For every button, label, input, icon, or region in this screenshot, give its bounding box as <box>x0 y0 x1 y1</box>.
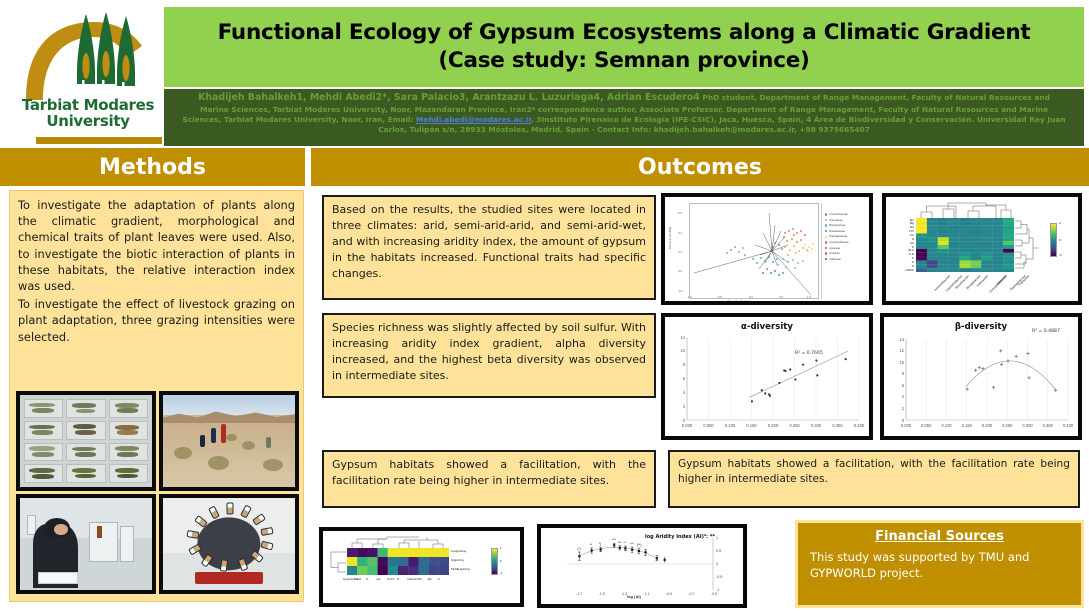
financial-sources-panel: Financial Sources This study was support… <box>795 520 1084 608</box>
pca-ytick-0: 0.6 <box>678 211 682 215</box>
pca-legend-label-3: Brassicaceae <box>829 230 845 233</box>
poster-canvas: Tarbiat Modares University Functional Ec… <box>0 0 1089 611</box>
x-tick-label: 0.250 <box>998 423 1016 428</box>
y-tick-label: 10 <box>674 348 685 353</box>
y-tick-label: 4 <box>893 394 904 399</box>
author-email-link[interactable]: Mehdi.abedi@modares.ac.ir <box>416 115 531 124</box>
photo-field-sampling-desert <box>159 391 299 491</box>
section-header-outcomes: Outcomes <box>311 148 1089 186</box>
y-tick-label: 14 <box>893 337 904 342</box>
x-tick-label: 0.300 <box>1019 423 1037 428</box>
x-tick-label: 0.000 <box>897 423 915 428</box>
y-tick-label: 8 <box>674 362 685 367</box>
aridity-significance-marker: *** <box>612 538 616 542</box>
author-names-line: Khadijeh Bahalkeh1, Mehdi Abedi2*, Sara … <box>170 92 1078 105</box>
heatmap-row-dendrogram-icon <box>1015 218 1041 272</box>
pca-legend-label-5: Caryophyllaceae <box>829 241 848 244</box>
x-tick-label: 0.050 <box>700 423 718 428</box>
affiliation-line-2-wrap: Marine Sciences, Tarbiat Modares Univers… <box>170 105 1078 115</box>
pca-legend-item[interactable]: Brassicaceae <box>825 230 873 233</box>
x-tick-label: 0.400 <box>850 423 868 428</box>
affiliation-line-3-post: , 3Instituto Pirenaico de Ecología (IPE-… <box>531 115 1066 124</box>
section-header-methods: Methods <box>0 148 308 186</box>
soil-heatmap-row-label: Lowgrazing <box>451 549 466 553</box>
outcome-textbox-facilitation-right: Gypsum habitats showed a facilitation, w… <box>668 450 1080 508</box>
pca-legend-item[interactable]: Caryophyllaceae <box>825 241 873 244</box>
tarbiat-modares-logo-icon <box>20 10 154 102</box>
financial-sources-title: Financial Sources <box>810 529 1069 544</box>
pca-legend-label-0: Amaranthaceae <box>829 213 847 216</box>
university-logo-block: Tarbiat Modares University <box>0 0 162 146</box>
affiliation-line-2: Marine Sciences, Tarbiat Modares Univers… <box>200 105 1048 114</box>
pca-legend-item[interactable]: Boraginaceae <box>825 224 873 227</box>
aridity-y-tick-label: -1 <box>716 588 719 592</box>
legend-swatch-icon <box>825 247 827 249</box>
pca-vectors-and-points <box>689 203 819 299</box>
aridity-x-tick-label: -0.7 <box>686 592 698 596</box>
financial-sources-body: This study was supported by TMU and GYPW… <box>810 550 1069 581</box>
outcome-textbox-facilitation-left: Gypsum habitats showed a facilitation, w… <box>322 450 656 508</box>
soil-heatmap-column-label: pH <box>377 577 381 581</box>
x-tick-label: 0.200 <box>978 423 996 428</box>
x-tick-label: 0.000 <box>678 423 696 428</box>
methods-paragraph-1: To investigate the adaptation of plants … <box>18 197 295 294</box>
aridity-y-tick-label: 0.5 <box>716 549 721 553</box>
logo-line-2: University <box>14 114 162 130</box>
x-tick-label: 0.250 <box>786 423 804 428</box>
affiliation-line-4: Carlos, Tulipán s/n, 28933 Móstoles, Mad… <box>378 125 870 134</box>
x-tick-label: 0.150 <box>958 423 976 428</box>
x-tick-label: 0.100 <box>938 423 956 428</box>
section-header-methods-label: Methods <box>99 155 206 180</box>
x-tick-label: 0.400 <box>1059 423 1077 428</box>
aridity-x-tick-label: -1.1 <box>641 592 653 596</box>
photo-dried-leaf-samples-trays <box>16 391 156 491</box>
pca-legend-label-2: Boraginaceae <box>829 224 845 227</box>
heatmap-row-label: C <box>888 257 914 260</box>
y-tick-label: 12 <box>674 335 685 340</box>
legend-swatch-icon <box>825 219 827 221</box>
y-tick-label: 12 <box>893 348 904 353</box>
pca-ytick-2: 0.2 <box>678 250 682 254</box>
figure-aridity-index-response: log Aridity Index (AI)²: ** log (AI) -1.… <box>537 524 747 608</box>
methods-panel: To investigate the adaptation of plants … <box>9 190 304 602</box>
soil-heatmap-column-label: C <box>438 577 440 581</box>
x-tick-label: 0.050 <box>917 423 935 428</box>
figure-pca-biplot: PCoA 2 (21.8%) PCoA 1 (42.7%) 0.6 0.4 0.… <box>661 193 873 305</box>
pca-legend-item[interactable]: Amaranthaceae <box>825 213 873 216</box>
heatmap-row-label: LDMC <box>888 269 914 272</box>
x-tick-label: 0.150 <box>743 423 761 428</box>
aridity-y-tick-label: 0 <box>716 562 718 566</box>
aridity-significance-marker: ** <box>623 541 625 545</box>
pca-legend-label-4: Plantaginaceae <box>829 235 847 238</box>
pca-legend-item[interactable]: Apiaceae <box>825 247 873 250</box>
affiliation-line-4-wrap: Carlos, Tulipán s/n, 28933 Móstoles, Mad… <box>170 125 1078 135</box>
pca-y-axis-label: PCoA 2 (21.8%) <box>668 227 672 249</box>
outcome-textbox-climates: Based on the results, the studied sites … <box>322 195 656 300</box>
logo-wordmark: Tarbiat Modares University <box>14 98 162 130</box>
pca-legend-label-6: Apiaceae <box>829 247 840 250</box>
heatmap-colorbar-tick-max: 2 <box>1059 221 1061 225</box>
photo-laboratory-analysis <box>16 494 156 594</box>
aridity-significance-marker: (*) <box>577 547 580 551</box>
legend-swatch-icon <box>825 230 827 232</box>
aridity-significance-marker: *** <box>630 542 634 546</box>
y-tick-label: 2 <box>893 406 904 411</box>
pca-legend-item[interactable]: Asteraceae <box>825 219 873 222</box>
aridity-x-tick-label: -1.7 <box>573 592 585 596</box>
aridity-x-tick-label: -0.5 <box>708 592 720 596</box>
aridity-x-tick-label: -1.5 <box>596 592 608 596</box>
heatmap-column-label: Apiaceae <box>996 274 1008 286</box>
photo-soil-sample-shaker <box>159 494 299 594</box>
outcome-text-1: Based on the results, the studied sites … <box>332 202 646 282</box>
pca-legend-item[interactable]: Fabaceae <box>825 258 873 261</box>
soil-heatmap-column-label: CLAY <box>387 577 395 581</box>
soil-heatmap-column-label: P <box>366 577 368 581</box>
y-tick-label: 6 <box>893 383 904 388</box>
soil-heatmap-column-label: EC <box>428 577 432 581</box>
beta-plot-canvas <box>884 317 1078 436</box>
soil-colorbar-tick-max: 1 <box>500 546 502 550</box>
alpha-plot-canvas <box>665 317 869 436</box>
soil-heatmap-row-dendrogram-icon <box>328 548 346 575</box>
heatmap-row-label: Ca <box>888 242 914 245</box>
x-tick-label: 0.350 <box>829 423 847 428</box>
soil-colorbar-tick-min: -1 <box>500 571 503 575</box>
aridity-significance-marker: (**) <box>637 543 642 547</box>
logo-gold-underbar <box>36 137 162 144</box>
legend-swatch-icon <box>825 252 827 254</box>
legend-swatch-icon <box>825 241 827 243</box>
pca-x-axis-label: PCoA 1 (42.7%) <box>727 300 750 304</box>
y-tick-label: 6 <box>674 376 685 381</box>
affiliation-line-1: PhD student, Department of Range Managem… <box>702 93 1049 102</box>
methods-photo-grid <box>16 391 299 596</box>
heatmap-colorbar-tick-mid: 0 <box>1059 238 1061 242</box>
heatmap-colorbar-tick-min: -2 <box>1059 253 1062 257</box>
methods-paragraph-2: To investigate the effect of livestock g… <box>18 296 295 345</box>
soil-heatmap-column-dendrogram-icon <box>347 535 449 548</box>
aridity-significance-marker: *** <box>618 541 622 545</box>
y-tick-label: 8 <box>893 371 904 376</box>
author-names: Khadijeh Bahalkeh1, Mehdi Abedi2*, Sara … <box>198 92 700 103</box>
soil-heatmap-colorbar <box>491 548 498 575</box>
x-tick-label: 0.200 <box>764 423 782 428</box>
y-tick-label: 4 <box>674 390 685 395</box>
x-tick-label: 0.350 <box>1039 423 1057 428</box>
aridity-x-tick-label: -0.9 <box>663 592 675 596</box>
aridity-y-tick-label: -0.5 <box>716 575 722 579</box>
affiliation-line-3-pre: Sciences, Tarbiat Modares University, No… <box>182 115 416 124</box>
outcome-text-4: Gypsum habitats showed a facilitation, w… <box>678 457 1070 488</box>
soil-heatmap-row-label: Higrazing <box>451 558 464 562</box>
aridity-significance-marker: *) <box>599 542 601 546</box>
pca-ytick-3: 0.0 <box>678 269 682 273</box>
legend-swatch-icon <box>825 236 827 238</box>
legend-swatch-icon <box>825 224 827 226</box>
soil-heatmap-column-label: S <box>356 577 358 581</box>
title-banner: Functional Ecology of Gypsum Ecosystems … <box>162 5 1086 89</box>
pca-legend-label-7: Poaceae <box>829 252 839 255</box>
section-header-outcomes-label: Outcomes <box>638 155 762 180</box>
pca-ytick-1: 0.4 <box>678 231 682 235</box>
pca-legend-label-8: Fabaceae <box>829 258 841 261</box>
outcome-textbox-diversity: Species richness was slightly affected b… <box>322 313 656 398</box>
x-tick-label: 0.100 <box>721 423 739 428</box>
aridity-y-tick-label: 1 <box>716 536 718 540</box>
author-affiliation-banner: Khadijeh Bahalkeh1, Mehdi Abedi2*, Sara … <box>162 89 1086 146</box>
figure-trait-family-heatmap: MnMgNaLThFeNCaKSLAC:NCPSLDMC Amaranthace… <box>882 193 1082 305</box>
outcome-text-3: Gypsum habitats showed a facilitation, w… <box>332 457 646 489</box>
pca-legend-item[interactable]: Poaceae <box>825 252 873 255</box>
outcome-text-2: Species richness was slightly affected b… <box>332 320 646 384</box>
soil-heatmap-cells <box>347 548 449 575</box>
pca-legend: Amaranthaceae Asteraceae Boraginaceae Br… <box>825 213 873 263</box>
heatmap-row-label: Fe <box>888 234 914 237</box>
x-tick-label: 0.300 <box>807 423 825 428</box>
heatmap-row-label: C:N <box>888 253 914 256</box>
pca-ytick-4: -0.2 <box>678 289 683 293</box>
soil-heatmap-column-label: CaCo3 <box>407 577 416 581</box>
soil-heatmap-row-label: Middlegrazing <box>451 567 470 571</box>
figure-alpha-diversity: α-diversity R² = 0.7665 024681012 0.0000… <box>661 313 873 440</box>
affiliation-line-3-wrap: Sciences, Tarbiat Modares University, No… <box>170 115 1078 125</box>
pca-legend-label-1: Asteraceae <box>829 219 842 222</box>
soil-heatmap-column-label: GypsumBand <box>343 577 361 581</box>
heatmap-row-label: P <box>888 261 914 264</box>
heatmap-cells <box>916 218 1014 272</box>
heatmap-column-label: Fabaceae <box>1018 274 1030 286</box>
legend-swatch-icon <box>825 213 827 215</box>
legend-swatch-icon <box>825 258 827 260</box>
soil-heatmap-column-label: N <box>397 577 399 581</box>
soil-colorbar-tick-mid: 0 <box>500 559 502 563</box>
soil-heatmap-column-label: Silt <box>417 577 421 581</box>
heatmap-colorbar <box>1050 223 1057 257</box>
figure-soil-grazing-heatmap: LowgrazingHigrazingMiddlegrazing GypsumB… <box>319 527 524 607</box>
figure-beta-diversity: β-diversity R² = 0.4887 02468101214 0.00… <box>880 313 1082 440</box>
y-tick-label: 10 <box>893 360 904 365</box>
y-tick-label: 2 <box>674 404 685 409</box>
heatmap-column-dendrogram-icon <box>916 200 1014 218</box>
pca-legend-item[interactable]: Plantaginaceae <box>825 235 873 238</box>
page-title: Functional Ecology of Gypsum Ecosystems … <box>164 19 1084 74</box>
aridity-x-tick-label: -1.3 <box>618 592 630 596</box>
aridity-significance-marker: ** <box>590 543 592 547</box>
